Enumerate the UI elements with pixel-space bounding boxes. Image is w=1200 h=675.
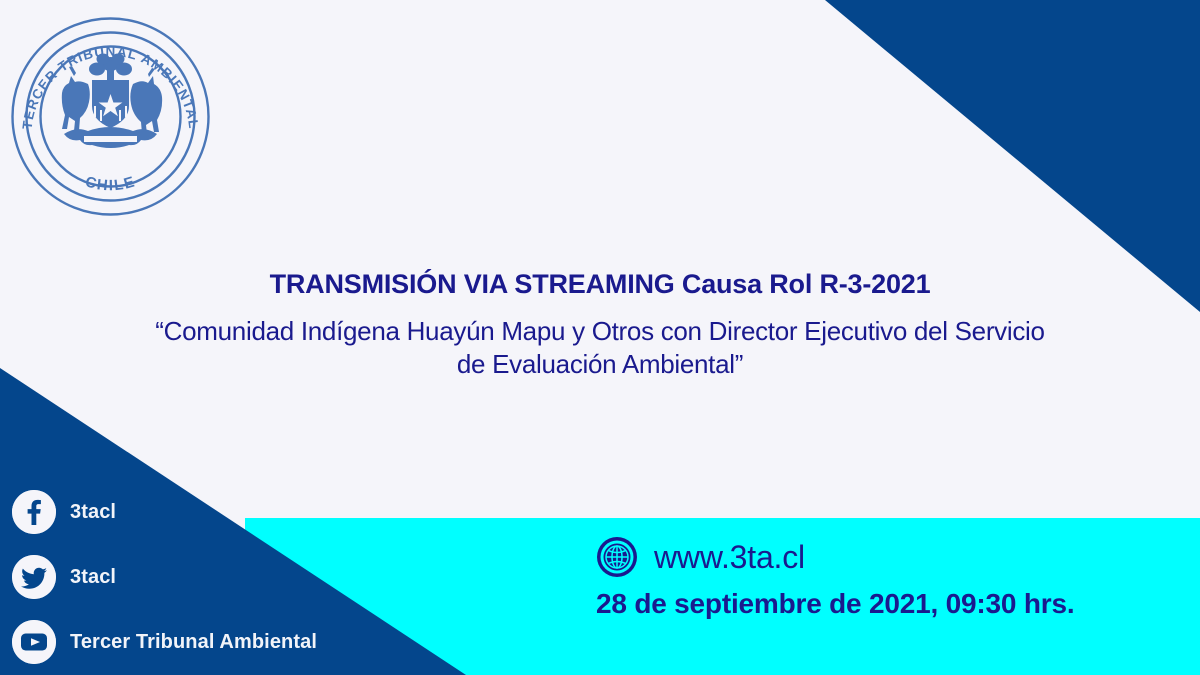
- website-row[interactable]: www.3ta.cl: [596, 534, 1156, 580]
- social-links-list: 3tacl 3tacl Tercer Tribunal Ambiental: [12, 486, 432, 675]
- event-datetime: 28 de septiembre de 2021, 09:30 hrs.: [596, 588, 1156, 620]
- institution-logo: TERCER TRIBUNAL AMBIENTAL CHILE: [8, 14, 213, 219]
- social-link-youtube[interactable]: Tercer Tribunal Ambiental: [12, 616, 432, 668]
- page-title: TRANSMISIÓN VIA STREAMING Causa Rol R-3-…: [100, 268, 1100, 301]
- case-name-line-2: de Evaluación Ambiental”: [100, 348, 1100, 381]
- case-name-line-1: “Comunidad Indígena Huayún Mapu y Otros …: [100, 315, 1100, 348]
- facebook-icon[interactable]: [12, 490, 56, 534]
- website-url[interactable]: www.3ta.cl: [654, 539, 805, 576]
- twitter-icon[interactable]: [12, 555, 56, 599]
- social-link-twitter[interactable]: 3tacl: [12, 551, 432, 603]
- headline-block: TRANSMISIÓN VIA STREAMING Causa Rol R-3-…: [100, 268, 1100, 381]
- twitter-handle: 3tacl: [70, 566, 116, 589]
- streaming-announcement-slide: TERCER TRIBUNAL AMBIENTAL CHILE: [0, 0, 1200, 675]
- footer-info: www.3ta.cl 28 de septiembre de 2021, 09:…: [596, 534, 1156, 620]
- globe-icon: [596, 536, 638, 578]
- logo-bottom-text: CHILE: [83, 173, 137, 194]
- youtube-icon[interactable]: [12, 620, 56, 664]
- facebook-handle: 3tacl: [70, 501, 116, 524]
- youtube-handle: Tercer Tribunal Ambiental: [70, 631, 317, 654]
- social-link-facebook[interactable]: 3tacl: [12, 486, 432, 538]
